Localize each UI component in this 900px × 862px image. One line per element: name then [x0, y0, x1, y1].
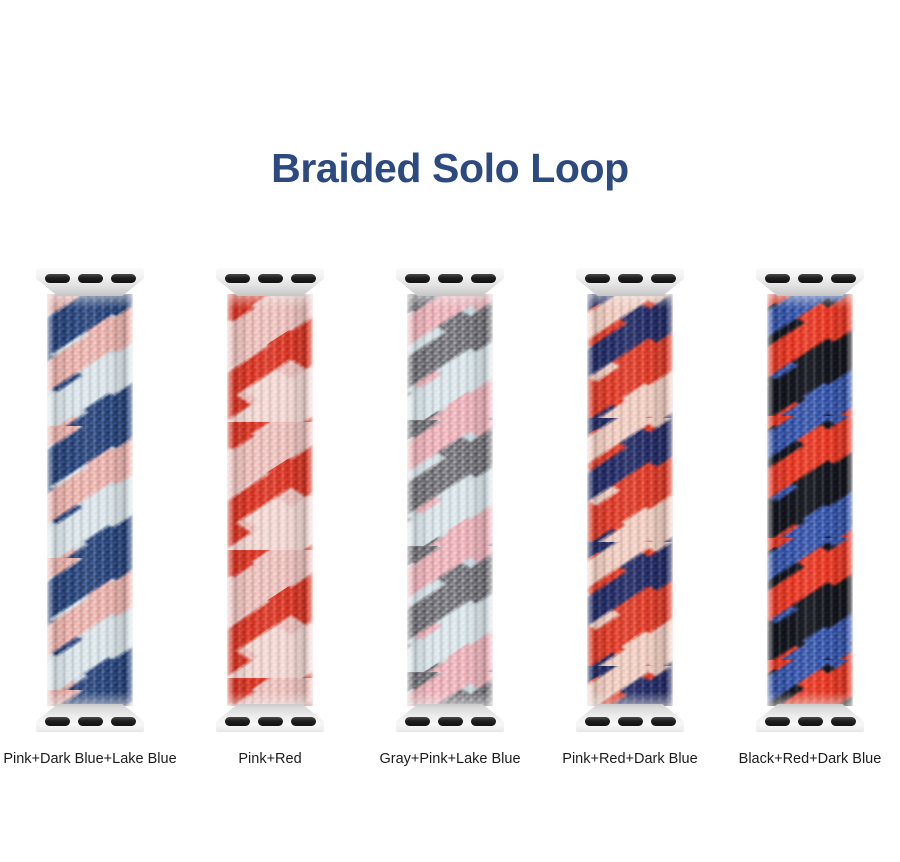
product-color-label: Gray+Pink+Lake Blue [379, 751, 520, 768]
strap-weave-pattern [767, 294, 853, 706]
connector-slot [78, 274, 103, 283]
connector-slot [438, 274, 463, 283]
page-title-container: Braided Solo Loop [0, 148, 900, 189]
connector-slot [258, 274, 283, 283]
strap-weave-pattern [227, 294, 313, 706]
connector-slot [471, 274, 496, 283]
connector-slots [576, 717, 684, 726]
watch-connector-bottom [216, 704, 324, 732]
braided-strap [587, 294, 673, 706]
product-color-label: Black+Red+Dark Blue [739, 751, 882, 768]
watch-connector-top [756, 268, 864, 296]
braided-strap [767, 294, 853, 706]
page-title: Braided Solo Loop [0, 148, 900, 189]
connector-slot [831, 274, 856, 283]
connector-slot [405, 717, 430, 726]
product-item[interactable]: Pink+Red [180, 268, 360, 768]
connector-slots [396, 717, 504, 726]
connector-slot [291, 274, 316, 283]
connector-slot [471, 717, 496, 726]
connector-slot [291, 717, 316, 726]
connector-slot [405, 274, 430, 283]
connector-slots [756, 717, 864, 726]
connector-slot [225, 274, 250, 283]
connector-slot [438, 717, 463, 726]
connector-slots [576, 274, 684, 283]
product-gallery: Pink+Dark Blue+Lake BluePink+RedGray+Pin… [0, 268, 900, 778]
product-item[interactable]: Pink+Red+Dark Blue [540, 268, 720, 768]
watch-connector-top [396, 268, 504, 296]
connector-slots [36, 717, 144, 726]
connector-slot [651, 274, 676, 283]
connector-slot [78, 717, 103, 726]
watch-connector-bottom [36, 704, 144, 732]
braided-strap [227, 294, 313, 706]
connector-slot [111, 717, 136, 726]
connector-slot [45, 274, 70, 283]
connector-slot [225, 717, 250, 726]
product-page: Braided Solo Loop Pink+Dark Blue+Lake Bl… [0, 0, 900, 862]
product-color-label: Pink+Red [238, 751, 301, 768]
watch-connector-top [576, 268, 684, 296]
connector-slots [36, 274, 144, 283]
braided-strap [407, 294, 493, 706]
connector-slots [216, 717, 324, 726]
braided-strap [47, 294, 133, 706]
connector-slot [831, 717, 856, 726]
connector-slot [651, 717, 676, 726]
connector-slot [765, 717, 790, 726]
watch-connector-bottom [396, 704, 504, 732]
strap-weave-pattern [587, 294, 673, 706]
connector-slot [618, 717, 643, 726]
connector-slot [798, 717, 823, 726]
connector-slot [585, 717, 610, 726]
connector-slot [765, 274, 790, 283]
product-item[interactable]: Black+Red+Dark Blue [720, 268, 900, 768]
watch-connector-bottom [576, 704, 684, 732]
connector-slot [618, 274, 643, 283]
watch-connector-top [216, 268, 324, 296]
product-item[interactable]: Pink+Dark Blue+Lake Blue [0, 268, 180, 768]
product-item[interactable]: Gray+Pink+Lake Blue [360, 268, 540, 768]
connector-slots [756, 274, 864, 283]
product-color-label: Pink+Dark Blue+Lake Blue [3, 751, 176, 768]
connector-slot [258, 717, 283, 726]
product-color-label: Pink+Red+Dark Blue [562, 751, 697, 768]
strap-weave-pattern [407, 294, 493, 706]
connector-slots [216, 274, 324, 283]
connector-slot [585, 274, 610, 283]
watch-connector-bottom [756, 704, 864, 732]
connector-slot [111, 274, 136, 283]
connector-slots [396, 274, 504, 283]
connector-slot [798, 274, 823, 283]
strap-weave-pattern [47, 294, 133, 706]
watch-connector-top [36, 268, 144, 296]
connector-slot [45, 717, 70, 726]
